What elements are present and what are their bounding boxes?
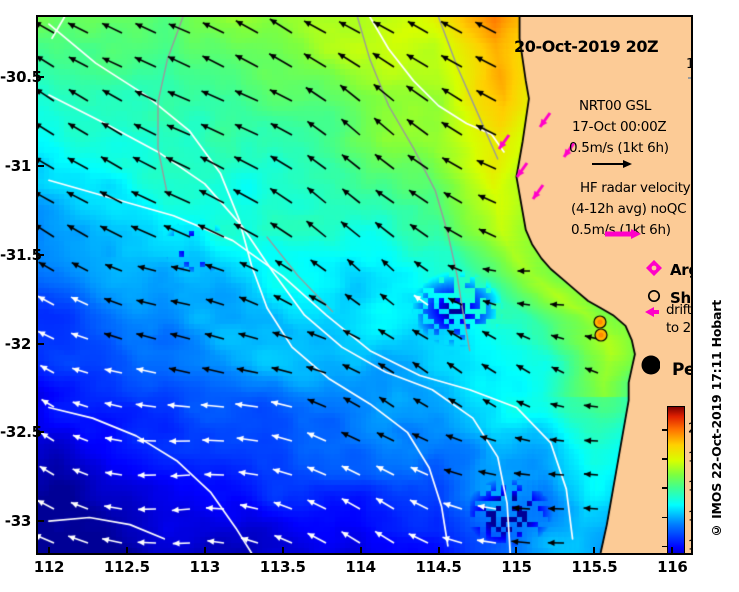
x-axis-tick — [282, 547, 284, 554]
perth-city-marker-icon — [626, 353, 660, 383]
drifter-marker-icon — [643, 305, 663, 319]
x-axis-tick-label: 114 — [345, 558, 375, 576]
x-axis-tick-label: 112.5 — [104, 558, 150, 576]
drifters-legend-line2: to 21/10 12Z — [666, 320, 693, 336]
argo-legend-label: Argo — [670, 261, 693, 279]
x-axis-tick — [48, 547, 50, 554]
y-axis-tick-label: -31 — [0, 157, 31, 175]
x-axis-tick-label: 114.5 — [416, 558, 462, 576]
bathymetry-1000m-rule — [688, 77, 693, 79]
y-axis-tick — [37, 343, 44, 345]
y-axis-tick-label: -30.5 — [0, 68, 31, 86]
x-axis-tick-label: 115.5 — [571, 558, 617, 576]
colorbar-tick — [662, 458, 667, 460]
ship-marker-icon — [646, 288, 662, 304]
x-axis-tick — [593, 547, 595, 554]
y-axis-tick-label: -32.5 — [0, 423, 31, 441]
colorbar-title: Filled 4h comp, p50, All Sats — [690, 406, 693, 555]
gsl-scale-arrow-icon — [590, 157, 634, 171]
x-axis-tick-label: 116 — [657, 558, 687, 576]
x-axis-tick — [438, 547, 440, 554]
x-axis-tick-label: 112 — [34, 558, 64, 576]
hfradar-annotation-line2: (4-12h avg) noQC — [571, 201, 686, 217]
gsl-annotation-line2: 17-Oct 00:00Z — [572, 119, 666, 135]
map-date-title: 20-Oct-2019 20Z — [514, 37, 658, 56]
bathymetry-200m-label: 200m — [690, 40, 693, 55]
y-axis-tick — [37, 165, 44, 167]
map-plot-area[interactable]: 20-Oct-2019 20Z 200m 1000m NRT00 GSL 17-… — [36, 15, 693, 555]
colorbar-tick — [662, 429, 667, 431]
x-axis-tick — [204, 547, 206, 554]
x-axis-tick — [360, 547, 362, 554]
colorbar-tick — [662, 517, 667, 519]
bathymetry-1000m-label: 1000m — [686, 57, 693, 72]
y-axis-tick — [37, 520, 44, 522]
colorbar-tick — [662, 546, 667, 548]
gsl-annotation-line3: 0.5m/s (1kt 6h) — [569, 140, 669, 156]
perth-label: Perth — [672, 360, 693, 380]
hfradar-scale-arrow-icon — [603, 227, 643, 241]
x-axis-tick — [515, 547, 517, 554]
x-axis-tick-label: 113 — [190, 558, 220, 576]
drifters-legend-line1: drifters@6h — [666, 302, 693, 318]
x-axis-tick — [671, 547, 673, 554]
x-axis-tick-label: 115 — [501, 558, 531, 576]
colorbar-tick — [662, 487, 667, 489]
hfradar-annotation-line1: HF radar velocity — [580, 180, 690, 196]
colorbar — [667, 406, 685, 555]
y-axis-tick-label: -32 — [0, 335, 31, 353]
y-axis-tick-label: -31.5 — [0, 246, 31, 264]
argo-marker-icon — [646, 260, 662, 276]
x-axis-tick-label: 113.5 — [260, 558, 306, 576]
x-axis-tick — [126, 547, 128, 554]
y-axis-tick-label: -33 — [0, 512, 31, 530]
credit-text: © IMOS 22-Oct-2019 17:11 Hobart — [709, 300, 724, 538]
gsl-annotation-line1: NRT00 GSL — [579, 98, 651, 114]
